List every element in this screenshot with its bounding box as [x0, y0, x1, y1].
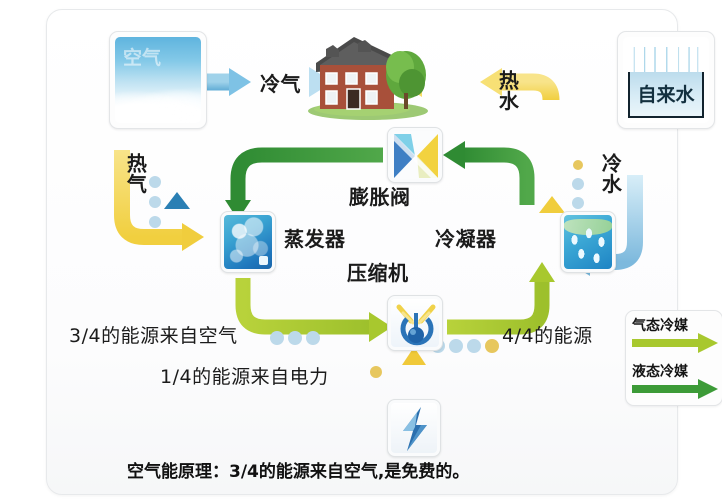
- energy-from-air-note: 3/4的能源来自空气: [69, 321, 238, 348]
- house-icon: [302, 25, 432, 120]
- electricity-bubble: [370, 366, 382, 378]
- air-tile-label: 空气: [123, 43, 161, 70]
- from-air-bubbles: [270, 331, 320, 345]
- expansion-valve-icon: [387, 127, 443, 183]
- condenser-icon: [560, 211, 616, 273]
- cold-air-label: 冷气: [260, 68, 301, 97]
- energy-from-electricity-note: 1/4的能源来自电力: [160, 362, 329, 389]
- legend-box: 气态冷媒 液态冷媒: [625, 310, 722, 406]
- house-illustration: [302, 25, 432, 120]
- evaporator-label: 蒸发器: [284, 223, 346, 252]
- legend-arrows: [626, 311, 722, 405]
- gas-refrigerant-path-right: [447, 262, 555, 327]
- diagram-card: 空气 自来水: [46, 9, 678, 495]
- total-energy-note: 4/4的能源: [502, 321, 593, 348]
- diagram-canvas: 空气 自来水: [0, 0, 722, 502]
- diagram-caption: 空气能原理：3/4的能源来自空气,是免费的。: [127, 457, 469, 482]
- tap-water-tile-label: 自来水: [623, 80, 709, 107]
- cold-water-label: 冷水: [600, 153, 620, 194]
- air-photo: 空气: [115, 37, 201, 123]
- electricity-bolt-icon: [387, 399, 441, 457]
- compressor-label: 压缩机: [347, 257, 409, 286]
- compressor-icon: [387, 295, 443, 351]
- tap-water-photo-tile: 自来水: [617, 31, 715, 129]
- evaporator-icon: [220, 211, 276, 273]
- condenser-label: 冷凝器: [435, 223, 497, 252]
- tap-water-photo: 自来水: [623, 37, 709, 123]
- hot-air-bubbles: [149, 176, 161, 228]
- legend-label-liquid: 液态冷媒: [632, 361, 688, 381]
- hot-water-label: 热水: [497, 70, 517, 111]
- gas-refrigerant-path-left: [243, 278, 392, 342]
- electricity-arrow: [402, 347, 426, 395]
- hot-air-label: 热气: [125, 153, 145, 194]
- expansion-valve-label: 膨胀阀: [349, 181, 411, 210]
- air-photo-tile: 空气: [109, 31, 207, 129]
- liquid-refrigerant-path-right: [443, 141, 527, 205]
